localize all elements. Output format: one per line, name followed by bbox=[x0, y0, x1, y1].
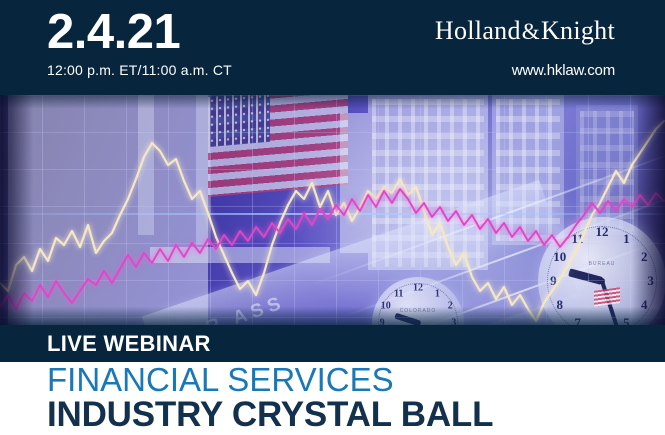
website-url[interactable]: www.hklaw.com bbox=[512, 62, 615, 79]
logo-ampersand-icon: & bbox=[521, 19, 541, 44]
holland-knight-logo: Holland&Knight bbox=[435, 16, 615, 46]
event-date: 2.4.21 bbox=[47, 8, 180, 57]
logo-word-holland: Holland bbox=[435, 16, 521, 45]
live-webinar-bar: LIVE WEBINAR bbox=[0, 325, 665, 362]
event-time: 12:00 p.m. ET/11:00 a.m. CT bbox=[47, 62, 232, 78]
live-webinar-label: LIVE WEBINAR bbox=[47, 331, 211, 357]
webinar-promo-banner: 2.4.21 12:00 p.m. ET/11:00 a.m. CT Holla… bbox=[0, 0, 665, 435]
hero-vignette bbox=[0, 95, 665, 325]
logo-word-knight: Knight bbox=[541, 16, 615, 45]
title-line-financial-services: FINANCIAL SERVICES bbox=[47, 362, 394, 399]
title-block: FINANCIAL SERVICES INDUSTRY CRYSTAL BALL bbox=[0, 362, 665, 435]
hero-collage-image: CAR ASS BUREAU 12 1 2 3 4 5 6 7 8 9 10 1… bbox=[0, 95, 665, 325]
banner-header: 2.4.21 12:00 p.m. ET/11:00 a.m. CT Holla… bbox=[0, 0, 665, 95]
title-line-industry-crystal-ball: INDUSTRY CRYSTAL BALL bbox=[47, 395, 493, 434]
